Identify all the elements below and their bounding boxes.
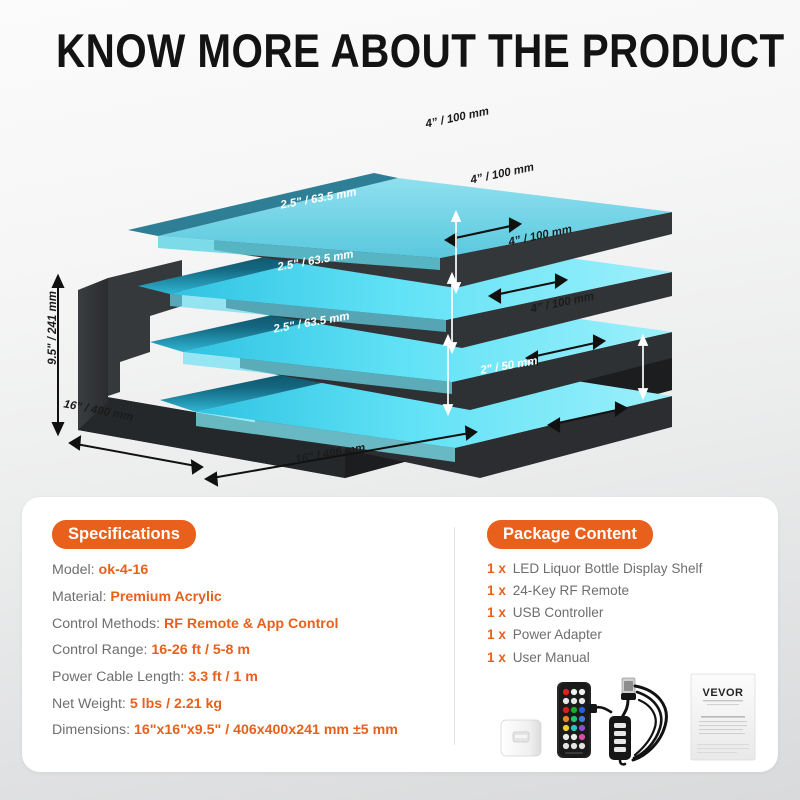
specifications-panel: Specifications Model: ok-4-16 Material: … (52, 520, 452, 750)
spec-label: Model: (52, 562, 95, 578)
spec-label: Material: (52, 589, 106, 605)
spec-row: Power Cable Length: 3.3 ft / 1 m (52, 670, 452, 684)
spec-label: Dimensions: (52, 722, 130, 738)
item-qty: 1 x (487, 605, 506, 620)
spec-value: RF Remote & App Control (164, 616, 338, 632)
spec-row: Control Range: 16-26 ft / 5-8 m (52, 643, 452, 657)
list-item: 1 x 24-Key RF Remote (487, 584, 787, 598)
rf-remote-photo (557, 682, 591, 758)
spec-value: Premium Acrylic (110, 589, 221, 605)
specifications-badge: Specifications (52, 520, 196, 549)
card-divider (454, 527, 455, 745)
dim-label-height: 9.5" / 241 mm (47, 291, 59, 365)
spec-row: Net Weight: 5 lbs / 2.21 kg (52, 697, 452, 711)
item-qty: 1 x (487, 650, 506, 665)
spec-value: 3.3 ft / 1 m (188, 669, 257, 685)
spec-label: Net Weight: (52, 696, 126, 712)
item-name: USB Controller (513, 605, 604, 620)
user-manual-photo: VEVOR (691, 674, 755, 760)
specifications-list: Model: ok-4-16 Material: Premium Acrylic… (52, 563, 452, 737)
list-item: 1 x User Manual (487, 651, 787, 665)
item-qty: 1 x (487, 583, 506, 598)
list-item: 1 x LED Liquor Bottle Display Shelf (487, 562, 787, 576)
spec-row: Material: Premium Acrylic (52, 590, 452, 604)
manual-brand: VEVOR (702, 687, 743, 699)
item-name: 24-Key RF Remote (513, 583, 629, 598)
spec-value: 16-26 ft / 5-8 m (151, 642, 250, 658)
item-qty: 1 x (487, 627, 506, 642)
spec-label: Control Range: (52, 642, 147, 658)
spec-value: 5 lbs / 2.21 kg (130, 696, 222, 712)
power-adapter-photo (501, 720, 541, 756)
item-name: LED Liquor Bottle Display Shelf (513, 561, 703, 576)
page-title-container: KNOW MORE ABOUT THE PRODUCT (0, 26, 800, 75)
product-illustration: 4” / 100 mm 4” / 100 mm 4” / 100 mm 4” /… (0, 100, 800, 490)
spec-label: Control Methods: (52, 616, 160, 632)
spec-row: Dimensions: 16"x16"x9.5" / 406x400x241 m… (52, 723, 452, 737)
package-content-badge: Package Content (487, 520, 653, 549)
item-name: Power Adapter (513, 627, 602, 642)
accessory-photos: VEVOR (495, 668, 775, 768)
page-title: KNOW MORE ABOUT THE PRODUCT (56, 26, 744, 75)
spec-row: Control Methods: RF Remote & App Control (52, 617, 452, 631)
spec-value: 16"x16"x9.5" / 406x400x241 mm ±5 mm (134, 722, 398, 738)
shelf-diagram-svg (0, 100, 800, 490)
accessory-photos-svg: VEVOR (495, 668, 775, 768)
spec-value: ok-4-16 (99, 562, 149, 578)
list-item: 1 x USB Controller (487, 606, 787, 620)
list-item: 1 x Power Adapter (487, 628, 787, 642)
package-content-panel: Package Content 1 x LED Liquor Bottle Di… (487, 520, 787, 673)
item-qty: 1 x (487, 561, 506, 576)
item-name: User Manual (513, 650, 590, 665)
spec-row: Model: ok-4-16 (52, 563, 452, 577)
usb-controller-photo (588, 678, 666, 764)
spec-label: Power Cable Length: (52, 669, 185, 685)
package-content-list: 1 x LED Liquor Bottle Display Shelf 1 x … (487, 562, 787, 664)
